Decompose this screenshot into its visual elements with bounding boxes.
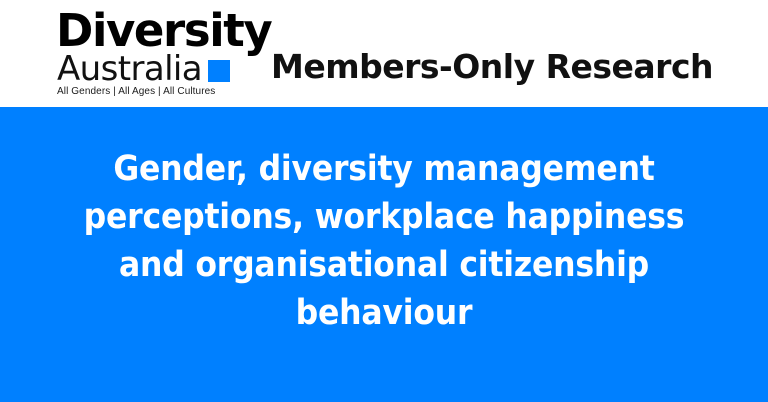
logo-tagline: All Genders | All Ages | All Cultures: [57, 86, 215, 98]
header-headline: Members-Only Research: [271, 47, 713, 87]
research-title: Gender, diversity management perceptions…: [64, 145, 704, 337]
research-title-line: behaviour: [64, 289, 704, 337]
research-promo-card: Diversity Australia All Genders | All Ag…: [0, 0, 768, 402]
diversity-australia-logo: Diversity Australia All Genders | All Ag…: [56, 8, 261, 100]
logo-word-australia: Australia: [57, 52, 202, 87]
card-header: Diversity Australia All Genders | All Ag…: [0, 0, 768, 107]
banner: Gender, diversity management perceptions…: [0, 107, 768, 402]
research-title-line: Gender, diversity management: [64, 145, 704, 193]
logo-word-diversity: Diversity: [56, 8, 271, 54]
research-title-line: perceptions, workplace happiness: [64, 193, 704, 241]
research-title-line: and organisational citizenship: [64, 241, 704, 289]
logo-blue-square-icon: [208, 60, 230, 82]
